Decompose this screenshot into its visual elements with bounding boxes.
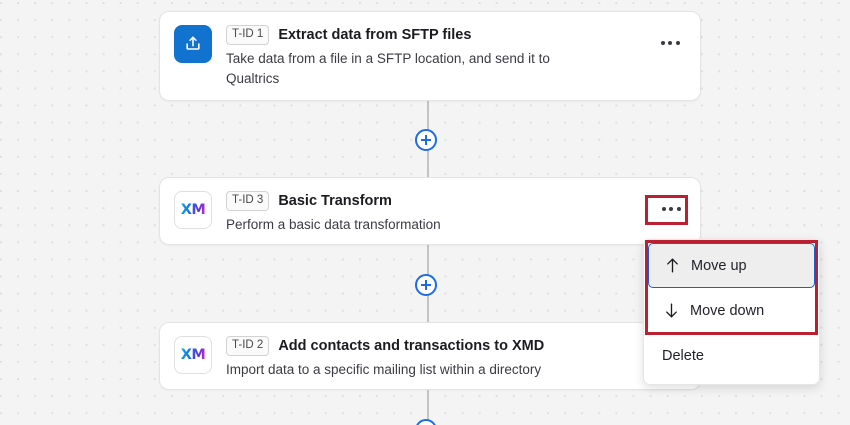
node-title: Extract data from SFTP files	[278, 27, 471, 43]
node-description: Import data to a specific mailing list w…	[226, 360, 606, 380]
xm-logo-label: XM	[181, 347, 206, 363]
node-title-row-3: T-ID 2 Add contacts and transactions to …	[226, 336, 656, 356]
node-title: Add contacts and transactions to XMD	[278, 338, 544, 354]
workflow-node-card-1[interactable]: T-ID 1 Extract data from SFTP files Take…	[159, 11, 701, 101]
upload-icon	[174, 25, 212, 63]
arrow-up-icon	[663, 256, 682, 275]
kebab-menu-icon-1[interactable]	[655, 30, 685, 56]
tid-badge: T-ID 1	[226, 25, 269, 45]
kebab-dot	[677, 207, 681, 211]
tid-badge: T-ID 3	[226, 191, 269, 211]
node-title: Basic Transform	[278, 193, 392, 209]
node-context-menu: Move up Move down Delete	[643, 239, 820, 385]
kebab-dot	[669, 207, 673, 211]
xm-logo-icon: XM	[174, 336, 212, 374]
kebab-dot	[668, 41, 672, 45]
node-body-1: T-ID 1 Extract data from SFTP files Take…	[212, 25, 655, 89]
node-title-row-1: T-ID 1 Extract data from SFTP files	[226, 25, 655, 45]
add-step-button-3[interactable]	[415, 419, 437, 425]
node-title-row-2: T-ID 3 Basic Transform	[226, 191, 656, 211]
workflow-node-card-2[interactable]: XM T-ID 3 Basic Transform Perform a basi…	[159, 177, 701, 245]
kebab-dot	[676, 41, 680, 45]
kebab-dot	[662, 207, 666, 211]
context-menu-item-move-up[interactable]: Move up	[648, 243, 815, 288]
xm-logo-label: XM	[181, 202, 206, 218]
workflow-canvas: T-ID 1 Extract data from SFTP files Take…	[0, 0, 850, 425]
arrow-down-icon	[662, 301, 681, 320]
add-step-button-1[interactable]	[415, 129, 437, 151]
workflow-node-card-3[interactable]: XM T-ID 2 Add contacts and transactions …	[159, 322, 701, 390]
context-menu-item-move-down[interactable]: Move down	[644, 288, 819, 333]
kebab-dot	[661, 41, 665, 45]
node-description: Perform a basic data transformation	[226, 215, 606, 235]
context-menu-label: Move down	[690, 303, 764, 319]
context-menu-item-delete[interactable]: Delete	[644, 333, 819, 378]
context-menu-label: Delete	[662, 348, 704, 364]
tid-badge: T-ID 2	[226, 336, 269, 356]
add-step-button-2[interactable]	[415, 274, 437, 296]
context-menu-label: Move up	[691, 258, 747, 274]
kebab-menu-icon-2[interactable]	[656, 196, 686, 222]
node-body-3: T-ID 2 Add contacts and transactions to …	[212, 336, 656, 380]
node-body-2: T-ID 3 Basic Transform Perform a basic d…	[212, 191, 656, 235]
node-description: Take data from a file in a SFTP location…	[226, 49, 606, 89]
xm-logo-icon: XM	[174, 191, 212, 229]
